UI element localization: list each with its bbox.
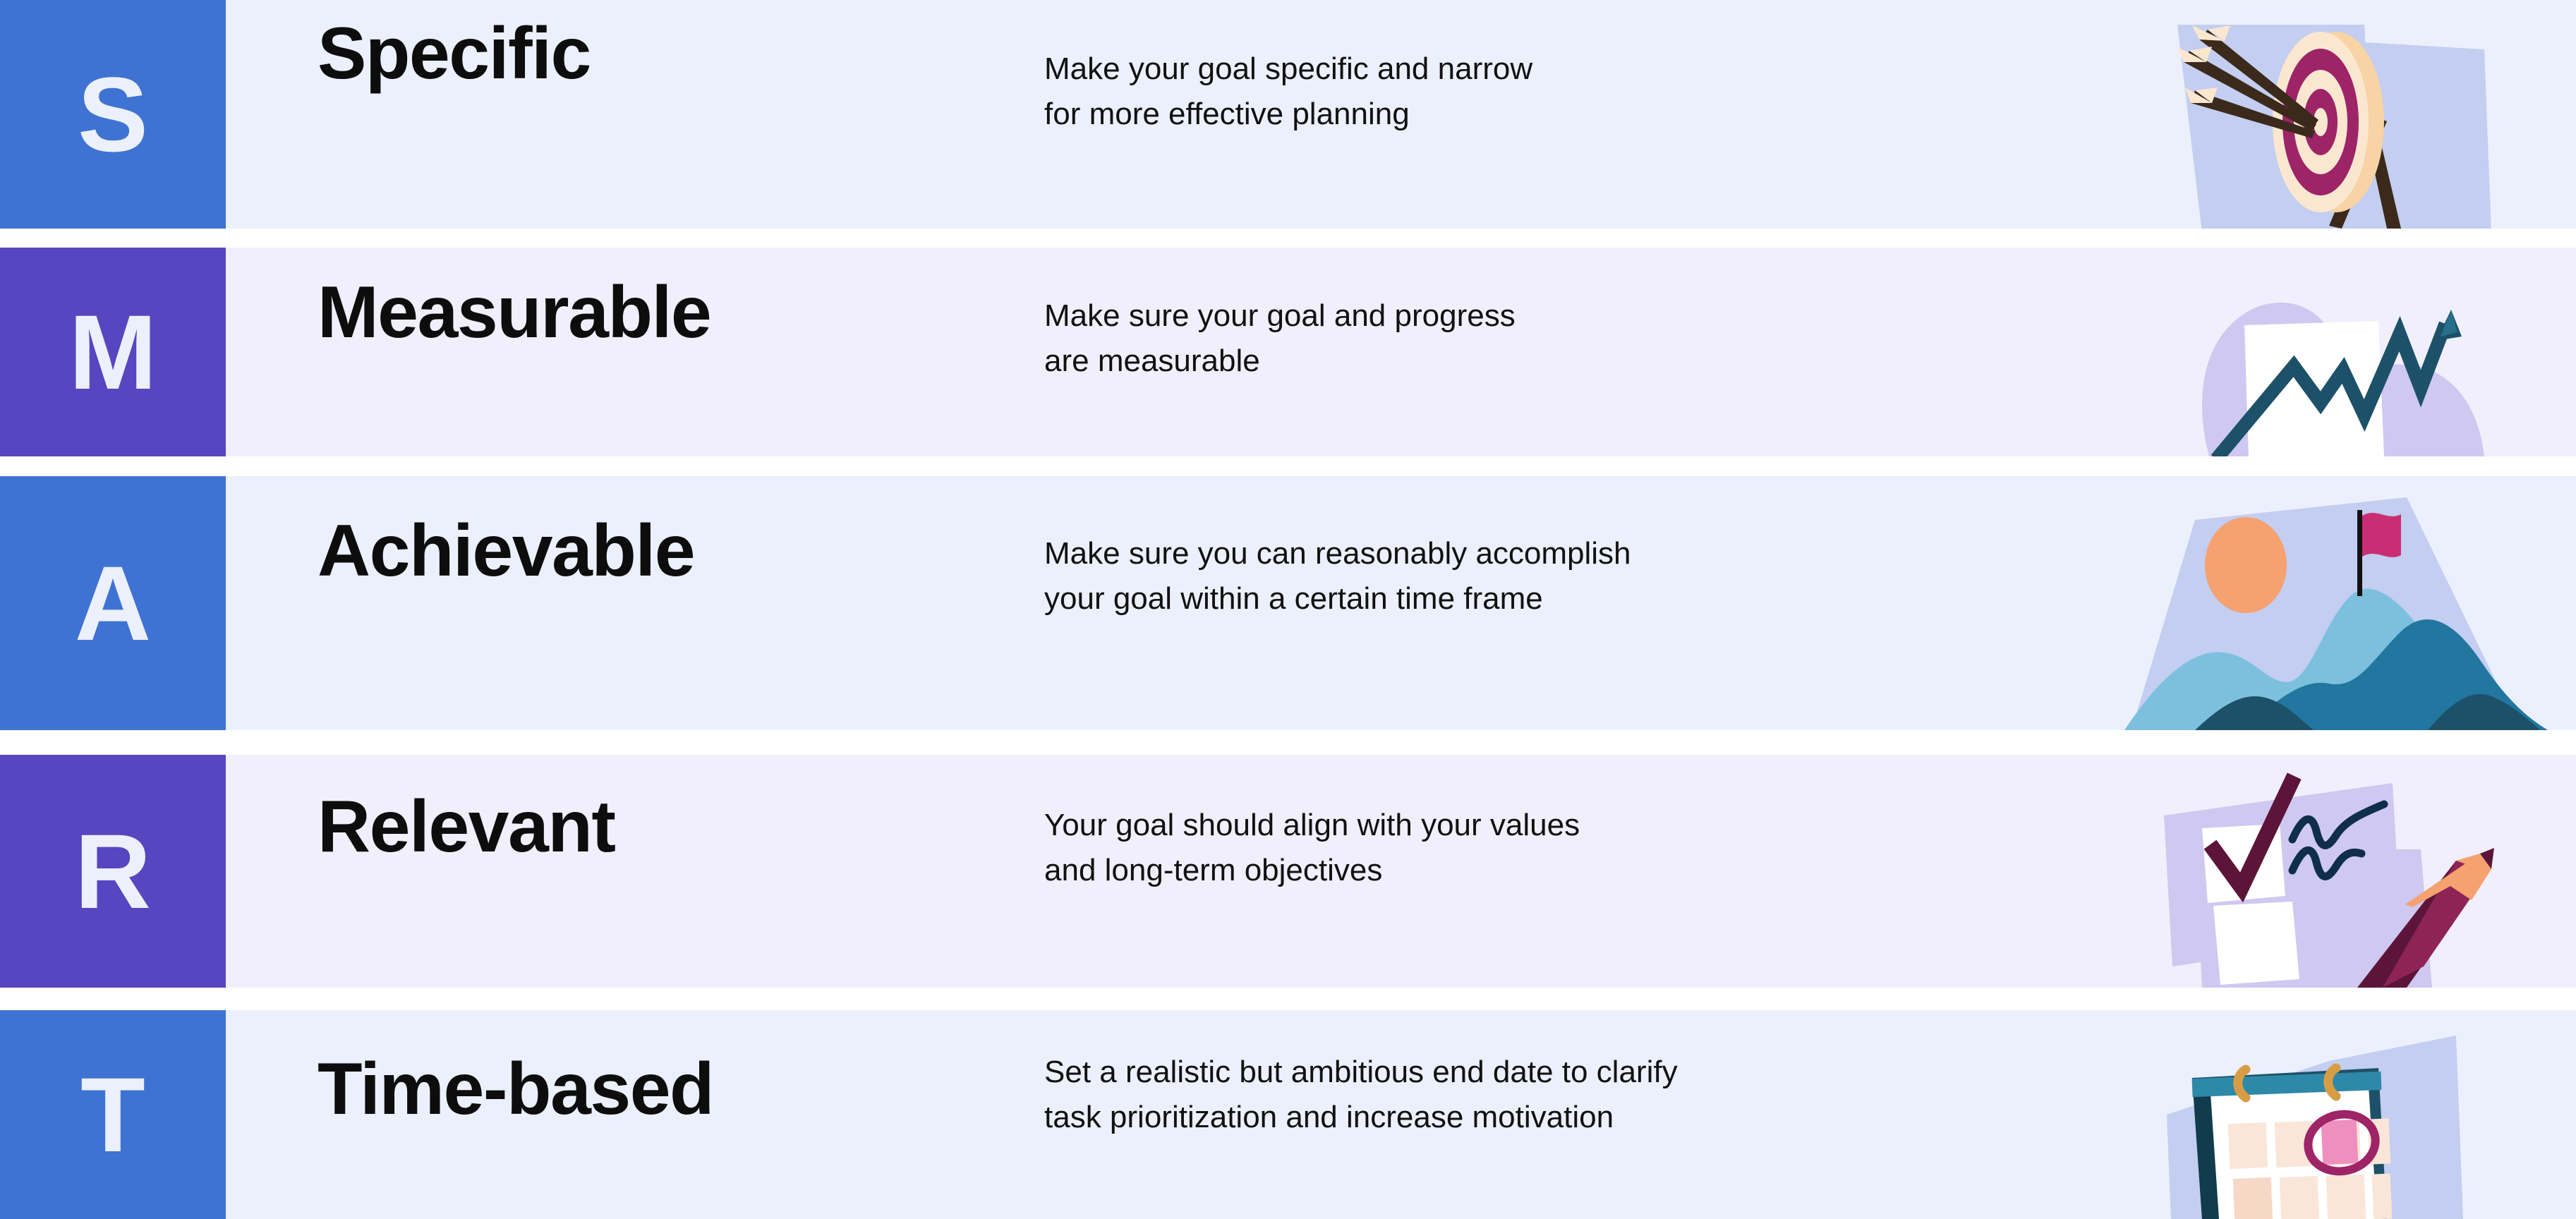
- row-body-relevant: Relevant Your goal should align with you…: [226, 755, 2576, 988]
- letter-m: M: [69, 299, 157, 405]
- description-relevant: Your goal should align with your values …: [1044, 803, 1580, 893]
- description-line: Make sure your goal and progress: [1044, 293, 1516, 339]
- mountain-with-flag-icon: [2124, 476, 2576, 730]
- smart-goals-infographic: S Specific Make your goal specific and n…: [0, 0, 2576, 1219]
- desk-calendar-icon: [2124, 1010, 2576, 1219]
- row-body-measurable: Measurable Make sure your goal and progr…: [226, 248, 2576, 456]
- headline-specific: Specific: [318, 16, 591, 92]
- letter-r: R: [75, 818, 151, 924]
- description-specific: Make your goal specific and narrow for m…: [1044, 47, 1532, 137]
- description-line: Your goal should align with your values: [1044, 803, 1580, 848]
- letter-t: T: [80, 1062, 145, 1168]
- letter-a: A: [75, 550, 151, 656]
- letter-block-s: S: [0, 0, 226, 229]
- rising-chart-arrow-icon: [2124, 248, 2576, 456]
- row-body-specific: Specific Make your goal specific and nar…: [226, 0, 2576, 229]
- headline-measurable: Measurable: [318, 274, 710, 351]
- target-with-arrows-icon: [2124, 0, 2576, 229]
- row-body-time-based: Time-based Set a realistic but ambitious…: [226, 1010, 2576, 1219]
- description-line: Make sure you can reasonably accomplish: [1044, 531, 1631, 576]
- letter-block-t: T: [0, 1010, 226, 1219]
- letter-s: S: [78, 61, 148, 167]
- smart-row-achievable: A Achievable Make sure you can reasonabl…: [0, 476, 2576, 730]
- description-time-based: Set a realistic but ambitious end date t…: [1044, 1050, 1678, 1140]
- checklist-with-pencil-icon: [2124, 755, 2576, 988]
- description-line: and long-term objectives: [1044, 848, 1580, 893]
- description-line: Set a realistic but ambitious end date t…: [1044, 1050, 1678, 1095]
- description-line: your goal within a certain time frame: [1044, 576, 1631, 621]
- description-line: are measurable: [1044, 339, 1516, 384]
- description-line: task prioritization and increase motivat…: [1044, 1095, 1678, 1140]
- row-body-achievable: Achievable Make sure you can reasonably …: [226, 476, 2576, 730]
- headline-relevant: Relevant: [318, 789, 615, 866]
- letter-block-r: R: [0, 755, 226, 988]
- smart-row-time-based: T Time-based Set a realistic but ambitio…: [0, 1010, 2576, 1219]
- smart-row-measurable: M Measurable Make sure your goal and pro…: [0, 248, 2576, 456]
- letter-block-a: A: [0, 476, 226, 730]
- headline-achievable: Achievable: [318, 513, 694, 590]
- smart-row-specific: S Specific Make your goal specific and n…: [0, 0, 2576, 229]
- description-achievable: Make sure you can reasonably accomplish …: [1044, 531, 1631, 621]
- description-measurable: Make sure your goal and progress are mea…: [1044, 293, 1516, 384]
- description-line: Make your goal specific and narrow: [1044, 47, 1532, 92]
- description-line: for more effective planning: [1044, 92, 1532, 137]
- letter-block-m: M: [0, 248, 226, 456]
- smart-row-relevant: R Relevant Your goal should align with y…: [0, 755, 2576, 988]
- headline-time-based: Time-based: [318, 1051, 713, 1128]
